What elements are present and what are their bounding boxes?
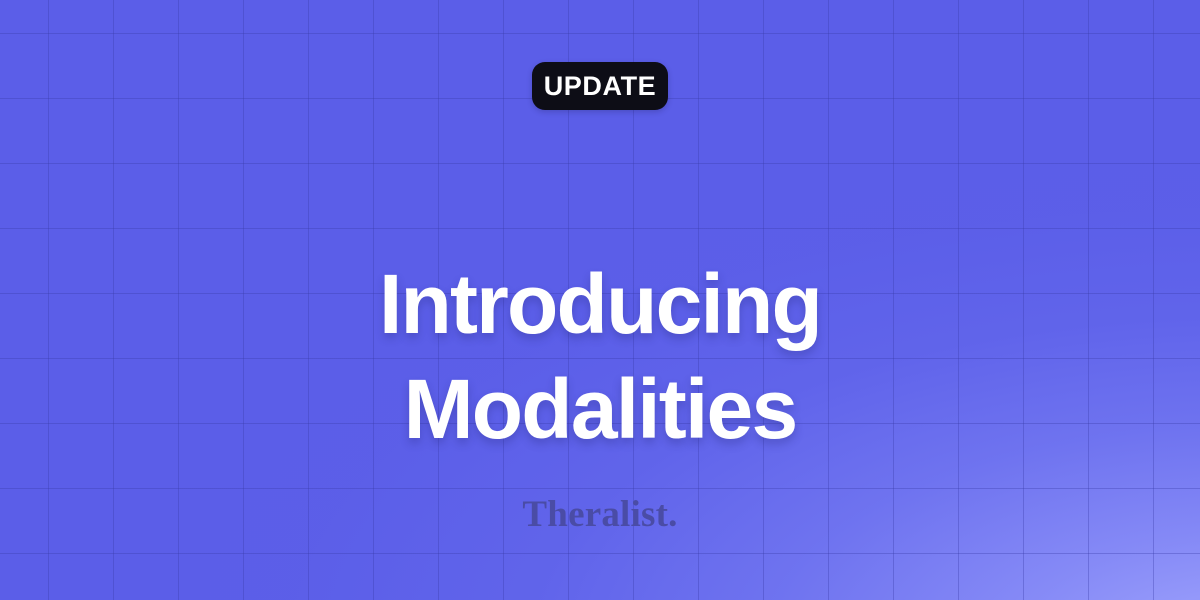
update-badge-label: UPDATE bbox=[544, 73, 657, 100]
brand-logo-wordmark: Theralist. bbox=[0, 495, 1200, 535]
banner-content: UPDATE Introducing Modalities Theralist. bbox=[0, 0, 1200, 600]
announcement-banner: UPDATE Introducing Modalities Theralist. bbox=[0, 0, 1200, 600]
page-title-line-2: Modalities bbox=[0, 357, 1200, 462]
page-title: Introducing Modalities bbox=[0, 252, 1200, 462]
update-badge: UPDATE bbox=[532, 62, 668, 110]
page-title-line-1: Introducing bbox=[0, 252, 1200, 357]
